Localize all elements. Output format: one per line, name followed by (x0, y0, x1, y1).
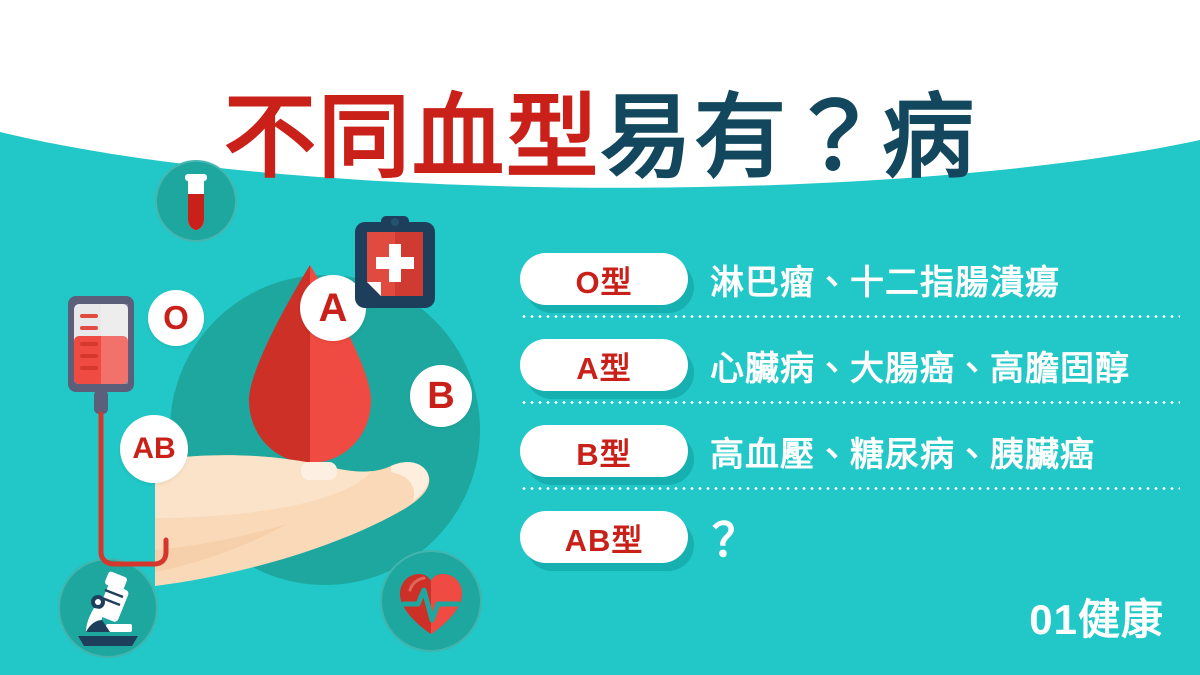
blood-type-b-bubble: B (410, 365, 472, 427)
blood-type-b-label: B (427, 375, 454, 418)
disease-text-o: 淋巴瘤、十二指腸潰瘍 (710, 255, 1060, 304)
blood-type-badge-ab: AB型 (520, 511, 688, 563)
test-tube-icon (155, 160, 237, 242)
illustration-group: O A B AB (30, 150, 510, 660)
clipboard-medical-icon (355, 216, 435, 308)
list-item: A型 心臟病、大腸癌、高膽固醇 (520, 326, 1180, 404)
list-divider (520, 487, 1180, 490)
list-item: O型 淋巴瘤、十二指腸潰瘍 (520, 240, 1180, 318)
infographic-canvas: 不同血型易有？病 O A (0, 0, 1200, 675)
badge-label-b: B型 (520, 425, 688, 477)
title-navy-part: 易有？病 (600, 87, 976, 189)
blood-type-a-label: A (319, 286, 348, 331)
blood-type-badge-o: O型 (520, 253, 688, 305)
iv-blood-bag-icon (50, 290, 185, 580)
blood-type-badge-b: B型 (520, 425, 688, 477)
badge-label-ab: AB型 (520, 511, 688, 563)
list-divider (520, 315, 1180, 318)
disease-text-b: 高血壓、糖尿病、胰臟癌 (710, 427, 1095, 476)
list-item: AB型 ？ (520, 498, 1180, 576)
blood-type-disease-list: O型 淋巴瘤、十二指腸潰瘍 A型 心臟病、大腸癌、高膽固醇 B型 高血壓、糖尿病… (520, 240, 1180, 570)
heart-pulse-icon (380, 550, 482, 652)
disease-text-ab: ？ (712, 504, 759, 570)
disease-text-a: 心臟病、大腸癌、高膽固醇 (710, 341, 1130, 390)
badge-label-o: O型 (520, 253, 688, 305)
list-divider (520, 401, 1180, 404)
list-item: B型 高血壓、糖尿病、胰臟癌 (520, 412, 1180, 490)
blood-type-badge-a: A型 (520, 339, 688, 391)
brand-logo: 01健康 (1029, 597, 1164, 643)
badge-label-a: A型 (520, 339, 688, 391)
